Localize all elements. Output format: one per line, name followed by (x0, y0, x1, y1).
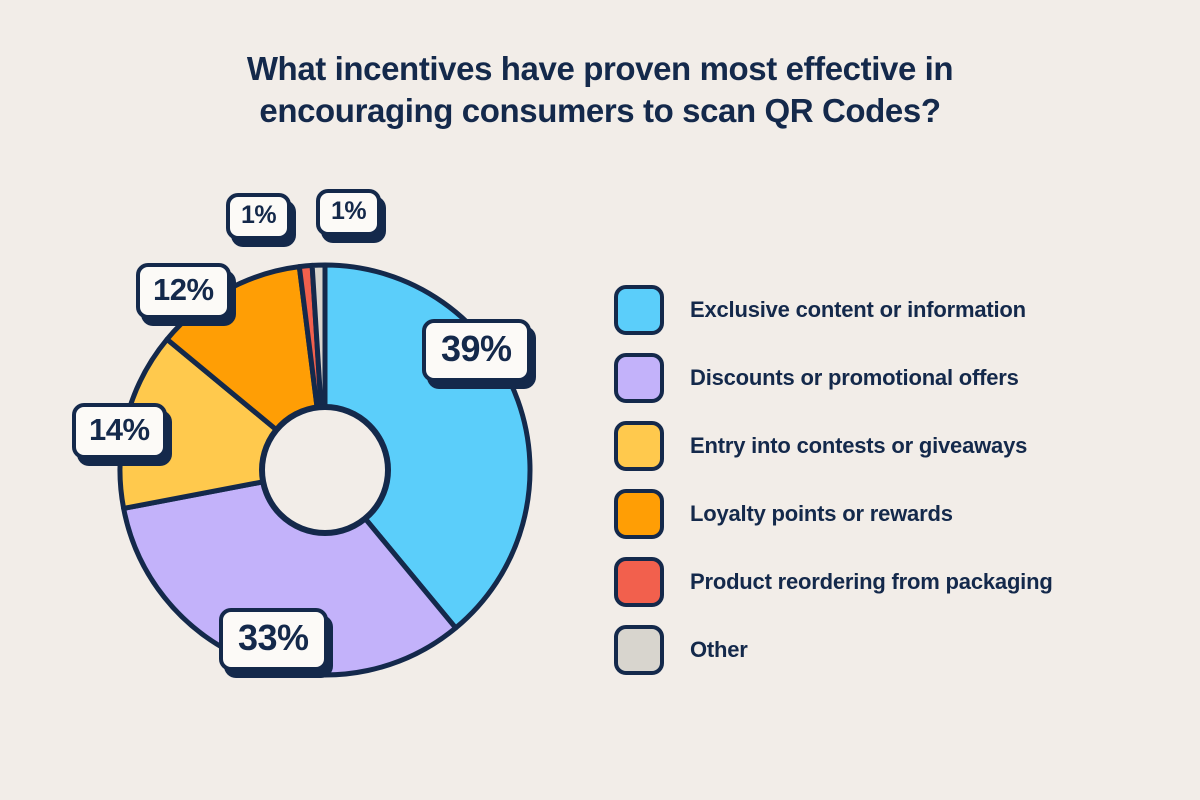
legend-item[interactable]: Loyalty points or rewards (614, 480, 1154, 548)
legend-item-label: Loyalty points or rewards (690, 501, 953, 527)
data-label-contests: 14% (72, 403, 167, 459)
legend-swatch (614, 421, 664, 471)
legend-item-label: Product reordering from packaging (690, 569, 1053, 595)
donut-chart-svg (0, 0, 600, 800)
donut-chart: 39% 33% 14% 12% 1% 1% (0, 0, 600, 800)
legend-swatch (614, 625, 664, 675)
legend-item-label: Entry into contests or giveaways (690, 433, 1027, 459)
data-label-other: 1% (316, 189, 381, 236)
chart-legend: Exclusive content or informationDiscount… (614, 276, 1154, 684)
data-label-exclusive: 39% (422, 319, 531, 382)
legend-swatch (614, 489, 664, 539)
legend-swatch (614, 353, 664, 403)
legend-item[interactable]: Other (614, 616, 1154, 684)
legend-item[interactable]: Exclusive content or information (614, 276, 1154, 344)
donut-center-hole (262, 407, 388, 533)
infographic-canvas: What incentives have proven most effecti… (0, 0, 1200, 800)
legend-item-label: Exclusive content or information (690, 297, 1026, 323)
data-label-discounts: 33% (219, 608, 328, 671)
legend-item[interactable]: Entry into contests or giveaways (614, 412, 1154, 480)
legend-item-label: Discounts or promotional offers (690, 365, 1019, 391)
legend-swatch (614, 557, 664, 607)
data-label-loyalty: 12% (136, 263, 231, 319)
legend-item[interactable]: Discounts or promotional offers (614, 344, 1154, 412)
legend-item-label: Other (690, 637, 748, 663)
legend-swatch (614, 285, 664, 335)
legend-item[interactable]: Product reordering from packaging (614, 548, 1154, 616)
data-label-reordering: 1% (226, 193, 291, 240)
